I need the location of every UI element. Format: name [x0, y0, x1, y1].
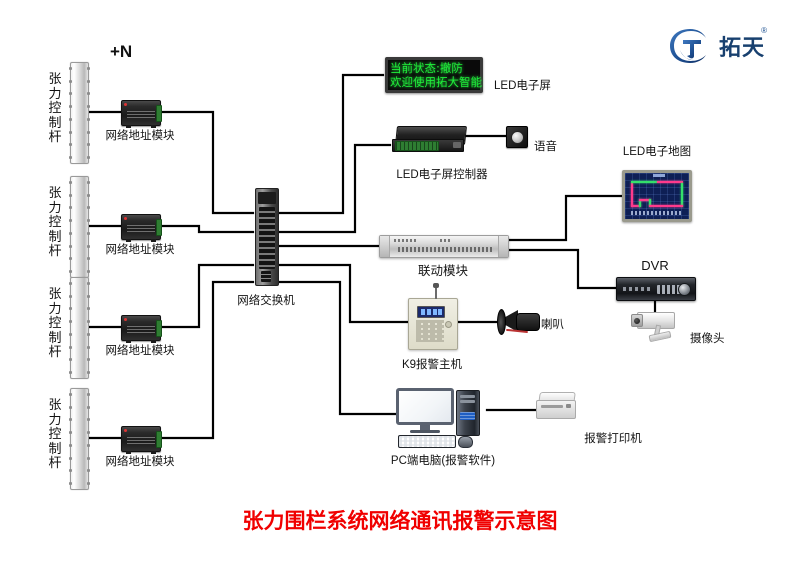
- led-map-label: LED电子地图: [623, 143, 691, 159]
- pole-insulators-left: [69, 181, 72, 273]
- map-perimeter-segment: [657, 181, 683, 183]
- pc-workstation-label: PC端电脑(报警软件): [391, 452, 495, 468]
- module-silkscreen: [127, 111, 155, 118]
- network-address-module-label: 网络地址模块: [106, 241, 175, 257]
- map-perimeter-segment: [631, 183, 633, 207]
- network-address-module: [121, 100, 161, 126]
- led-electronic-map: [622, 170, 692, 222]
- camera-label: 摄像头: [690, 330, 725, 346]
- printer-button[interactable]: [566, 404, 571, 408]
- circle-t-logo-icon: [667, 26, 713, 66]
- voice-speaker-device: [506, 126, 528, 148]
- alarm-printer: [536, 392, 576, 420]
- diagram-title: 张力围栏系统网络通讯报警示意图: [243, 505, 558, 535]
- pole-insulators-right: [87, 67, 90, 159]
- plus-n-label: +N: [110, 42, 132, 62]
- voice-label: 语音: [534, 138, 557, 154]
- registered-mark: ®: [761, 26, 767, 35]
- monitor-base: [410, 430, 440, 433]
- module-led-icon: [124, 429, 127, 432]
- map-top-tab: [653, 174, 665, 177]
- network-address-module-label: 网络地址模块: [106, 127, 175, 143]
- controller-terminal-block: [395, 141, 439, 151]
- pole-insulators-left: [69, 393, 72, 485]
- module-silkscreen: [440, 239, 450, 242]
- rack-ear-left: [380, 236, 390, 257]
- camera-mount: [649, 331, 672, 342]
- mouse-icon: [458, 436, 473, 448]
- network-switch-icon: [255, 188, 279, 286]
- switch-sfp-ports: [261, 271, 271, 282]
- tension-pole-label: 张力控制杆: [48, 186, 62, 259]
- switch-ports: [259, 207, 275, 269]
- alarm-printer-label: 报警打印机: [584, 430, 642, 446]
- monitor-icon: [396, 388, 454, 425]
- camera-device: [629, 310, 681, 342]
- led-screen-line1: 当前状态:撤防: [390, 61, 478, 75]
- module-terminal-block: [156, 320, 162, 337]
- module-silkscreen: [127, 326, 155, 333]
- dvr-label: DVR: [641, 258, 668, 273]
- pole-insulators-left: [69, 282, 72, 374]
- map-perimeter-segment: [649, 205, 683, 207]
- map-caption-strip: [631, 211, 683, 215]
- pole-insulators-left: [69, 67, 72, 159]
- module-silkscreen: [127, 225, 155, 232]
- led-screen-controller: [392, 126, 466, 152]
- tension-pole: [70, 176, 89, 278]
- tension-pole-label: 张力控制杆: [48, 398, 62, 471]
- led-display-screen-label: LED电子屏: [494, 77, 551, 93]
- led-screen-controller-label: LED电子屏控制器: [396, 166, 487, 182]
- module-silkscreen: [127, 437, 155, 444]
- horn-speaker-label: 喇叭: [541, 316, 564, 332]
- tower-drive-bay: [460, 395, 475, 398]
- module-led-icon: [124, 217, 127, 220]
- pole-insulators-right: [87, 181, 90, 273]
- horn-speaker: [498, 308, 542, 336]
- dvr-jog-dial[interactable]: [678, 283, 691, 296]
- network-switch-label: 网络交换机: [237, 292, 295, 308]
- pc-tower-icon: [456, 390, 480, 436]
- printer-paper-slot: [541, 405, 563, 408]
- horn-mouth: [497, 309, 506, 335]
- module-led-icon: [124, 318, 127, 321]
- tension-pole: [70, 62, 89, 164]
- alarm-host-keypad[interactable]: [416, 320, 444, 342]
- module-led-strip: [398, 247, 492, 252]
- pole-insulators-right: [87, 393, 90, 485]
- tension-pole: [70, 388, 89, 490]
- horn-body: [516, 313, 540, 331]
- module-led-icon: [124, 103, 127, 106]
- k9-alarm-host: [408, 298, 458, 350]
- dvr-device: [616, 277, 696, 301]
- led-display-screen: 当前状态:撤防 欢迎使用拓大智能: [385, 57, 483, 93]
- k9-alarm-host-label: K9报警主机: [402, 356, 462, 372]
- keyboard-icon: [398, 435, 456, 448]
- network-address-module: [121, 315, 161, 341]
- brand-name: 拓天: [719, 30, 765, 62]
- map-perimeter-segment: [681, 183, 683, 207]
- controller-port: [453, 142, 461, 148]
- linkage-module: [379, 235, 509, 258]
- linkage-module-label: 联动模块: [418, 260, 468, 279]
- tower-front-panel: [460, 412, 475, 420]
- network-address-module: [121, 214, 161, 240]
- tension-pole-label: 张力控制杆: [48, 287, 62, 360]
- dvr-brand-text: [623, 287, 653, 291]
- map-perimeter-segment: [631, 181, 657, 183]
- network-address-module: [121, 426, 161, 452]
- alarm-host-display: [417, 306, 445, 318]
- rack-ear-right: [498, 236, 508, 257]
- brand-logo: ® 拓天: [667, 26, 765, 66]
- pole-insulators-right: [87, 282, 90, 374]
- module-silkscreen: [394, 239, 418, 242]
- led-screen-line2: 欢迎使用拓大智能: [390, 75, 478, 89]
- printer-body: [536, 400, 576, 419]
- tower-drive-bay: [460, 400, 475, 403]
- module-terminal-block: [156, 431, 162, 448]
- network-address-module-label: 网络地址模块: [106, 453, 175, 469]
- switch-header: [258, 192, 276, 204]
- tension-pole-label: 张力控制杆: [48, 72, 62, 145]
- network-address-module-label: 网络地址模块: [106, 342, 175, 358]
- speaker-cone-icon: [511, 131, 524, 144]
- antenna-icon: [435, 286, 437, 299]
- tension-pole: [70, 277, 89, 379]
- alarm-host-indicator: [445, 321, 452, 328]
- module-terminal-block: [156, 105, 162, 122]
- pc-workstation: [396, 388, 488, 448]
- camera-lens-icon: [631, 314, 643, 327]
- module-terminal-block: [156, 219, 162, 236]
